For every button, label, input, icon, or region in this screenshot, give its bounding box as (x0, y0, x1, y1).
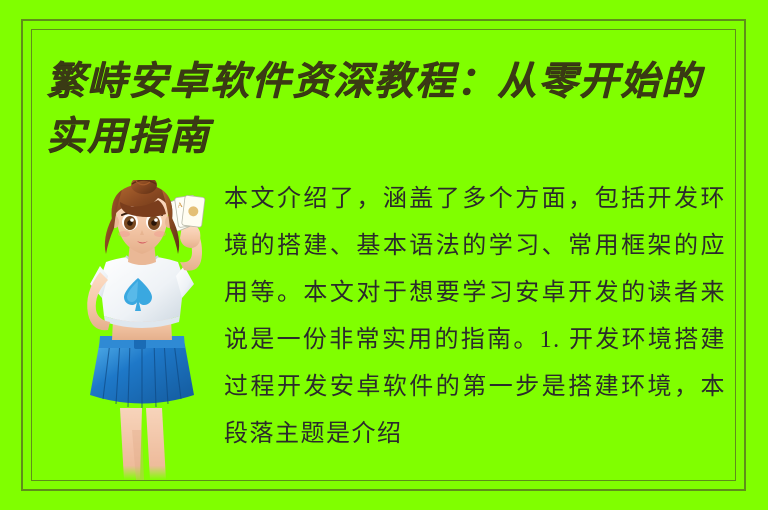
article-body: 本文介绍了，涵盖了多个方面，包括开发环境的搭建、基本语法的学习、常用框架的应用等… (224, 176, 726, 458)
page-title: 繁峙安卓软件资深教程：从零开始的实用指南 (46, 54, 736, 164)
anime-girl-svg: A (62, 180, 222, 480)
legs (120, 408, 166, 480)
pleated-skirt (90, 335, 194, 408)
poster-canvas: 繁峙安卓软件资深教程：从零开始的实用指南 (0, 0, 768, 510)
head (105, 180, 179, 254)
illustration-anime-girl: A (62, 180, 222, 480)
white-tshirt (90, 256, 194, 328)
